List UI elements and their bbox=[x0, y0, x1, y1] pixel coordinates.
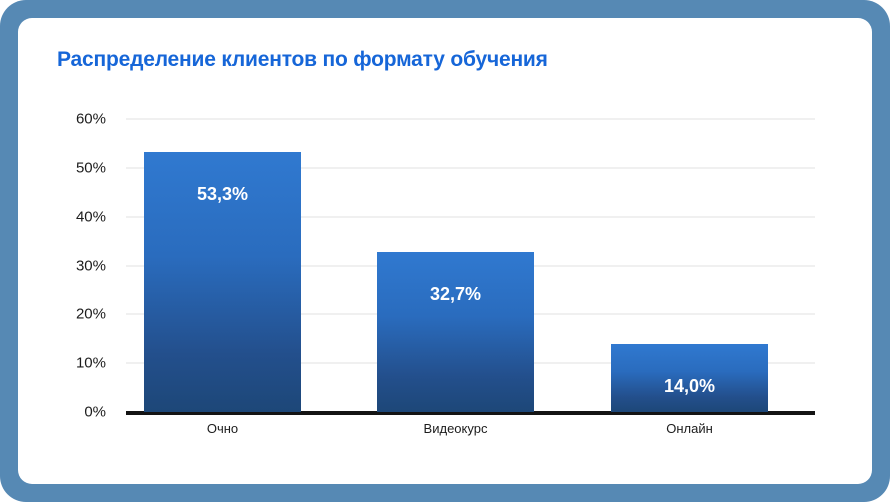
x-axis-tick-label: Онлайн bbox=[611, 421, 768, 436]
bar-value-label: 14,0% bbox=[611, 376, 768, 397]
y-axis-tick-label: 20% bbox=[36, 306, 106, 323]
y-axis-tick-label: 10% bbox=[36, 355, 106, 372]
x-axis-tick-label: Видеокурс bbox=[377, 421, 534, 436]
bar[interactable]: 53,3% bbox=[144, 152, 301, 412]
y-axis-tick-label: 0% bbox=[36, 404, 106, 421]
bar[interactable]: 14,0% bbox=[611, 344, 768, 412]
bar[interactable]: 32,7% bbox=[377, 252, 534, 412]
gridline bbox=[126, 118, 815, 120]
y-axis-tick-label: 60% bbox=[36, 111, 106, 128]
bar-value-label: 53,3% bbox=[144, 184, 301, 205]
x-axis-tick-label: Очно bbox=[144, 421, 301, 436]
chart-card: Распределение клиентов по формату обучен… bbox=[18, 18, 872, 484]
outer-frame: Распределение клиентов по формату обучен… bbox=[0, 0, 890, 502]
y-axis-tick-label: 30% bbox=[36, 257, 106, 274]
y-axis-tick-label: 40% bbox=[36, 208, 106, 225]
bar-chart-plot: 0%10%20%30%40%50%60% 53,3%32,7%14,0% Очн… bbox=[18, 18, 872, 484]
y-axis-tick-label: 50% bbox=[36, 159, 106, 176]
bar-value-label: 32,7% bbox=[377, 284, 534, 305]
